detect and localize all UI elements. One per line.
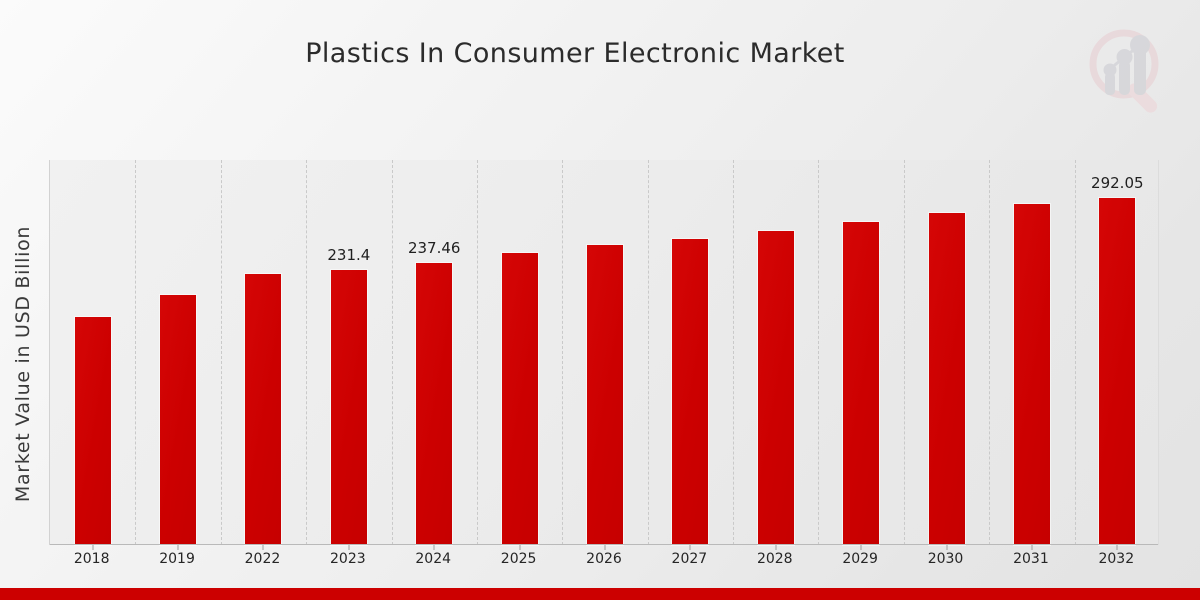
x-axis-tick-label: 2026	[586, 551, 622, 567]
x-axis-tick	[178, 545, 179, 550]
bar-slot	[818, 160, 903, 545]
bar[interactable]	[416, 263, 452, 545]
x-axis-tick-label: 2032	[1098, 551, 1134, 567]
x-axis-tick-label: 2024	[415, 551, 451, 567]
bar-slot	[648, 160, 733, 545]
bar-slot	[733, 160, 818, 545]
bar[interactable]	[75, 317, 111, 545]
x-axis-tick	[519, 545, 520, 550]
bar[interactable]	[1099, 198, 1135, 545]
x-axis-tick	[92, 545, 93, 550]
bar[interactable]	[587, 245, 623, 545]
y-axis-title: Market Value in USD Billion	[12, 154, 34, 574]
x-axis-tick-label: 2029	[842, 551, 878, 567]
x-axis-tick	[1031, 545, 1032, 550]
x-axis-tick	[434, 545, 435, 550]
x-axis-tick	[861, 545, 862, 550]
bar[interactable]	[245, 274, 281, 545]
x-axis-tick	[1117, 545, 1118, 550]
bar[interactable]	[502, 253, 538, 545]
bar[interactable]	[1014, 204, 1050, 545]
bar-slot	[989, 160, 1074, 545]
footer-band	[0, 588, 1200, 600]
bar-slot	[904, 160, 989, 545]
x-axis-tick	[946, 545, 947, 550]
bar-slot	[477, 160, 562, 545]
x-axis-tick-label: 2022	[245, 551, 281, 567]
bar-slot	[562, 160, 647, 545]
x-axis-tick	[348, 545, 349, 550]
bar-slot: 237.46	[392, 160, 477, 545]
x-axis-tick	[263, 545, 264, 550]
bar-value-label: 237.46	[408, 239, 461, 257]
bar[interactable]	[331, 270, 367, 545]
x-axis-tick-label: 2018	[74, 551, 110, 567]
x-axis-tick-label: 2023	[330, 551, 366, 567]
plot-area: 231.4237.46292.05	[49, 160, 1159, 545]
bar-slot	[50, 160, 135, 545]
bar-value-label: 292.05	[1091, 174, 1144, 192]
bar-slot	[221, 160, 306, 545]
chart-canvas: Plastics In Consumer Electronic Market M…	[0, 0, 1200, 600]
x-axis-tick	[690, 545, 691, 550]
brand-logo-watermark	[1078, 20, 1182, 124]
page-title: Plastics In Consumer Electronic Market	[0, 38, 1150, 69]
bar-value-label: 231.4	[327, 246, 370, 264]
bar[interactable]	[160, 295, 196, 545]
x-axis-tick	[775, 545, 776, 550]
x-axis-tick	[604, 545, 605, 550]
x-axis-tick-label: 2027	[672, 551, 708, 567]
bar-slot	[135, 160, 220, 545]
bar[interactable]	[929, 213, 965, 545]
bar[interactable]	[758, 231, 794, 545]
bar[interactable]	[843, 222, 879, 545]
x-axis-tick-label: 2030	[928, 551, 964, 567]
x-axis-tick-label: 2019	[159, 551, 195, 567]
bar[interactable]	[672, 239, 708, 545]
x-axis-tick-label: 2031	[1013, 551, 1049, 567]
bar-slot: 231.4	[306, 160, 391, 545]
x-axis-tick-label: 2025	[501, 551, 537, 567]
x-axis-line	[50, 544, 1158, 545]
bar-slot: 292.05	[1075, 160, 1160, 545]
x-axis-tick-label: 2028	[757, 551, 793, 567]
